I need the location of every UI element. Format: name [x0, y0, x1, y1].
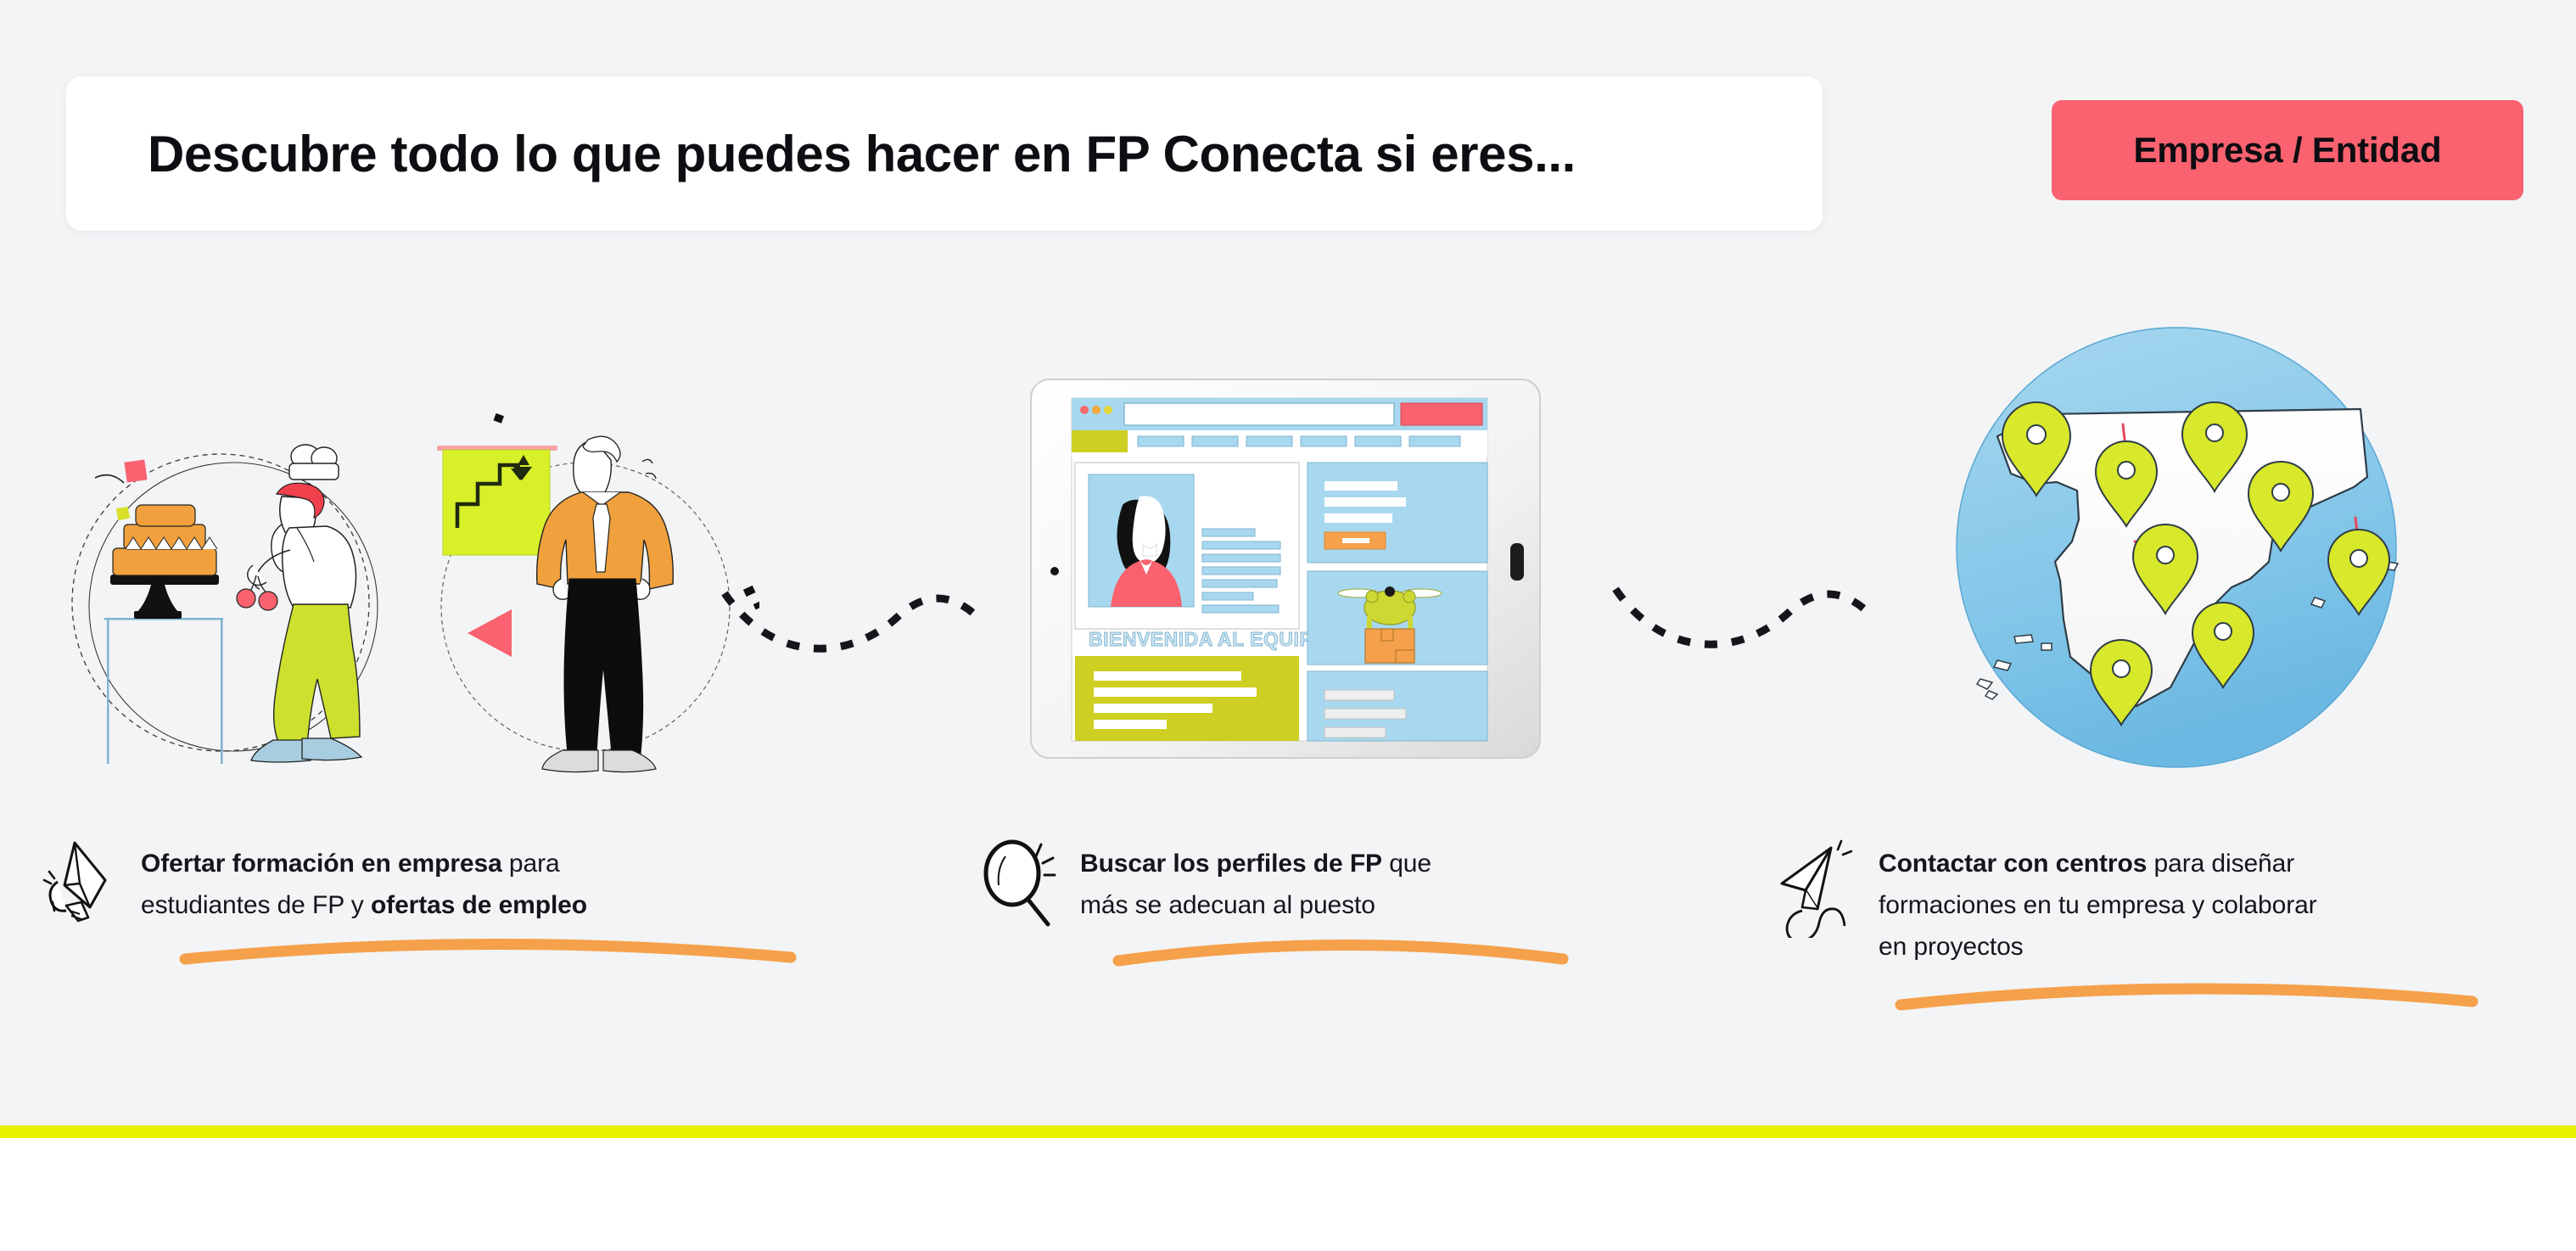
magnifier-icon [980, 836, 1058, 934]
feature-1-rest-2: estudiantes de FP y [141, 891, 371, 919]
header-card: Descubre todo lo que puedes hacer en FP … [66, 76, 1823, 231]
feature-3-line-1: Contactar con centros para diseñar [1879, 843, 2317, 884]
illustration-pastry-chef [51, 399, 416, 789]
feature-3-underline [1894, 978, 2479, 1016]
feature-1-bold-2: ofertas de empleo [371, 891, 587, 919]
feature-block-3: Contactar con centros para diseñar forma… [1773, 836, 2554, 968]
feature-3-bold-1: Contactar con centros [1879, 850, 2147, 878]
feature-2-rest-1: que [1382, 850, 1431, 878]
illustration-businessman-chart [420, 399, 759, 789]
feature-1-bold-1: Ofertar formación en empresa [141, 850, 502, 878]
tablet-welcome-text: BIENVENIDA AL EQUIPO [1089, 628, 1329, 650]
feature-1-line-2: estudiantes de FP y ofertas de empleo [141, 884, 587, 926]
illustration-spain-map [1936, 307, 2416, 788]
yellow-divider-bar [0, 1125, 2576, 1138]
audience-badge-label: Empresa / Entidad [2133, 130, 2441, 171]
feature-3-rest-1: para diseñar [2147, 850, 2294, 878]
feature-1-underline [178, 934, 798, 972]
feature-block-1: Ofertar formación en empresa para estudi… [41, 836, 821, 934]
feature-2-bold-1: Buscar los perfiles de FP [1080, 850, 1382, 878]
feature-3-line-3: en proyectos [1879, 926, 2317, 968]
footer: F P : CONECTA [0, 1138, 2576, 1251]
dashed-connector-right [1604, 577, 1892, 662]
illustration-tablet: BIENVENIDA AL EQUIPO [1022, 369, 1565, 768]
feature-2-underline [1112, 934, 1570, 972]
feature-1-rest-1: para [502, 850, 560, 878]
audience-badge[interactable]: Empresa / Entidad [2052, 100, 2523, 200]
poster-canvas: Descubre todo lo que puedes hacer en FP … [0, 0, 2576, 1251]
feature-2-line-1: Buscar los perfiles de FP que [1080, 843, 1431, 884]
feature-1-line-1: Ofertar formación en empresa para [141, 843, 587, 884]
feature-3-line-2: formaciones en tu empresa y colaborar [1879, 884, 2317, 926]
feature-2-line-2: más se adecuan al puesto [1080, 884, 1431, 926]
feature-block-2: Buscar los perfiles de FP que más se ade… [980, 836, 1744, 934]
paper-plane-icon [1773, 836, 1858, 942]
dashed-connector-left [713, 581, 1001, 666]
page-title: Descubre todo lo que puedes hacer en FP … [148, 125, 1576, 183]
megaphone-icon [41, 836, 119, 934]
